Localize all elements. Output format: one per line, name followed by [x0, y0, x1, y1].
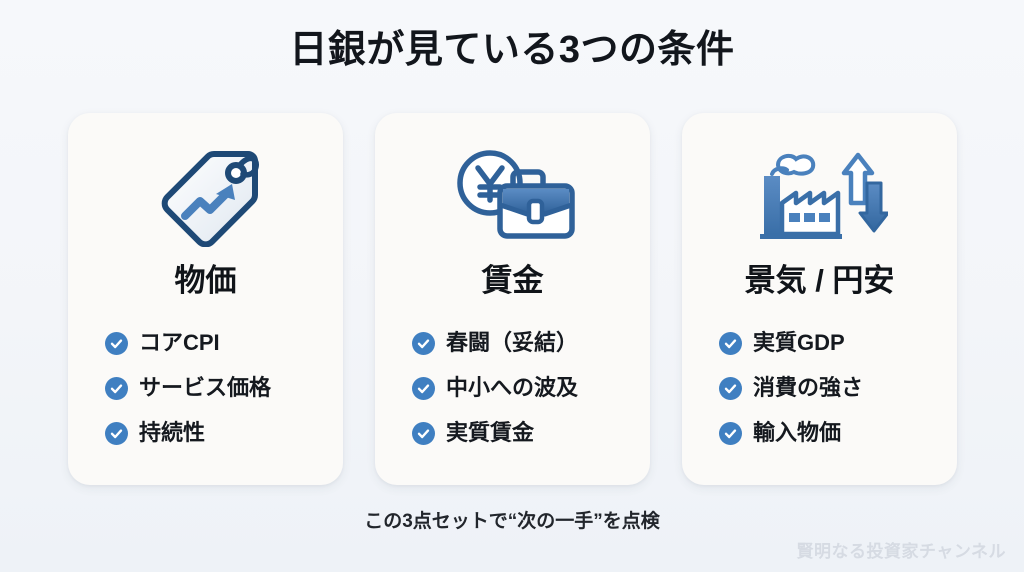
footer-caption: この3点セットで“次の一手”を点検: [0, 511, 1024, 534]
channel-watermark: 賢明なる投資家チャンネル: [797, 542, 1007, 562]
card-title: 賃金: [482, 263, 544, 299]
list-item-label: サービス価格: [139, 377, 271, 399]
check-circle-icon: [412, 377, 435, 400]
list-item[interactable]: 実質賃金: [412, 411, 650, 456]
condition-card-prices[interactable]: 物価 コアCPI サービス価格: [68, 113, 343, 485]
page-title: 日銀が見ている3つの条件: [0, 28, 1024, 74]
check-circle-icon: [105, 422, 128, 445]
list-item-label: 輸入物価: [753, 422, 841, 444]
list-item-label: 中小への波及: [446, 377, 578, 399]
condition-item-list: 春闘（妥結） 中小への波及 実質賃金: [375, 321, 650, 456]
condition-item-list: 実質GDP 消費の強さ 輸入物価: [682, 321, 957, 456]
factory-arrows-icon: [745, 139, 895, 251]
list-item-label: 実質GDP: [753, 332, 845, 354]
check-circle-icon: [412, 332, 435, 355]
check-circle-icon: [719, 377, 742, 400]
list-item[interactable]: 中小への波及: [412, 366, 650, 411]
price-tag-trend-icon: [131, 139, 281, 251]
list-item[interactable]: コアCPI: [105, 321, 343, 366]
condition-cards-row: 物価 コアCPI サービス価格: [68, 113, 957, 485]
list-item[interactable]: 実質GDP: [719, 321, 957, 366]
check-circle-icon: [412, 422, 435, 445]
card-title: 景気 / 円安: [745, 263, 895, 299]
check-circle-icon: [719, 332, 742, 355]
check-circle-icon: [719, 422, 742, 445]
list-item[interactable]: サービス価格: [105, 366, 343, 411]
yen-coin-briefcase-icon: [438, 139, 588, 251]
list-item[interactable]: 春闘（妥結）: [412, 321, 650, 366]
check-circle-icon: [105, 377, 128, 400]
list-item-label: 春闘（妥結）: [446, 332, 578, 354]
list-item-label: 消費の強さ: [753, 377, 863, 399]
slide-root: 日銀が見ている3つの条件: [0, 0, 1024, 572]
condition-card-wages[interactable]: 賃金 春闘（妥結） 中小への波及: [375, 113, 650, 485]
list-item[interactable]: 消費の強さ: [719, 366, 957, 411]
list-item-label: 持続性: [139, 422, 205, 444]
list-item-label: 実質賃金: [446, 422, 534, 444]
check-circle-icon: [105, 332, 128, 355]
condition-card-economy-yen[interactable]: 景気 / 円安 実質GDP 消費の強さ: [682, 113, 957, 485]
condition-item-list: コアCPI サービス価格 持続性: [68, 321, 343, 456]
list-item[interactable]: 輸入物価: [719, 411, 957, 456]
card-title: 物価: [175, 263, 237, 299]
list-item-label: コアCPI: [139, 332, 220, 354]
list-item[interactable]: 持続性: [105, 411, 343, 456]
